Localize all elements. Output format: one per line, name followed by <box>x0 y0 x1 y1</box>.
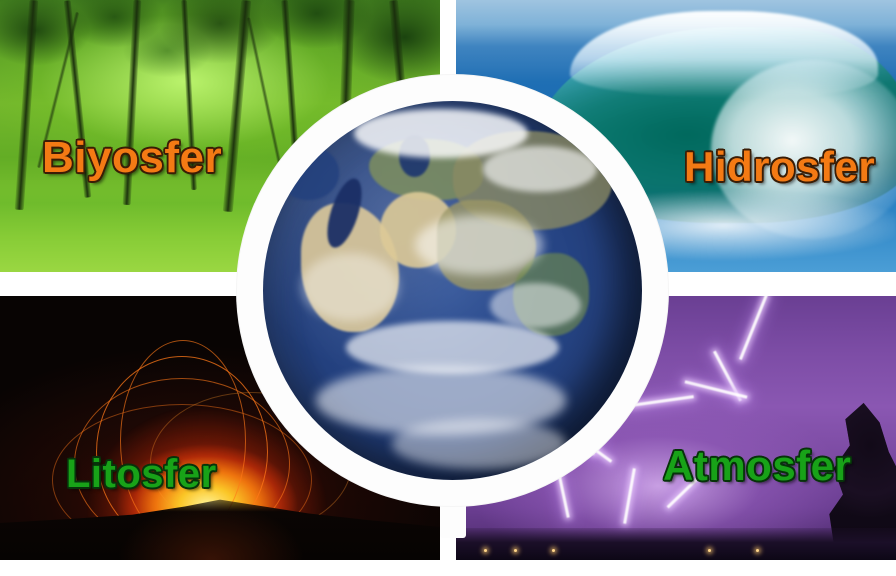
cloud-band <box>301 253 400 321</box>
label-litosfer: Litosfer <box>66 452 217 497</box>
atlantic <box>278 146 339 199</box>
earth-globe[interactable] <box>237 75 668 506</box>
cloud-band <box>483 146 597 191</box>
earth-sphere <box>263 101 642 480</box>
cloud-swirl <box>392 419 566 468</box>
label-biyosfer: Biyosfer <box>42 133 222 183</box>
spheres-diagram: Biyosfer Hidrosfer Litosfer Atmosfer <box>0 0 896 576</box>
horizon-line <box>456 528 896 560</box>
label-hidrosfer: Hidrosfer <box>684 143 875 191</box>
cloud-band <box>415 215 544 276</box>
label-atmosfer: Atmosfer <box>663 442 851 490</box>
